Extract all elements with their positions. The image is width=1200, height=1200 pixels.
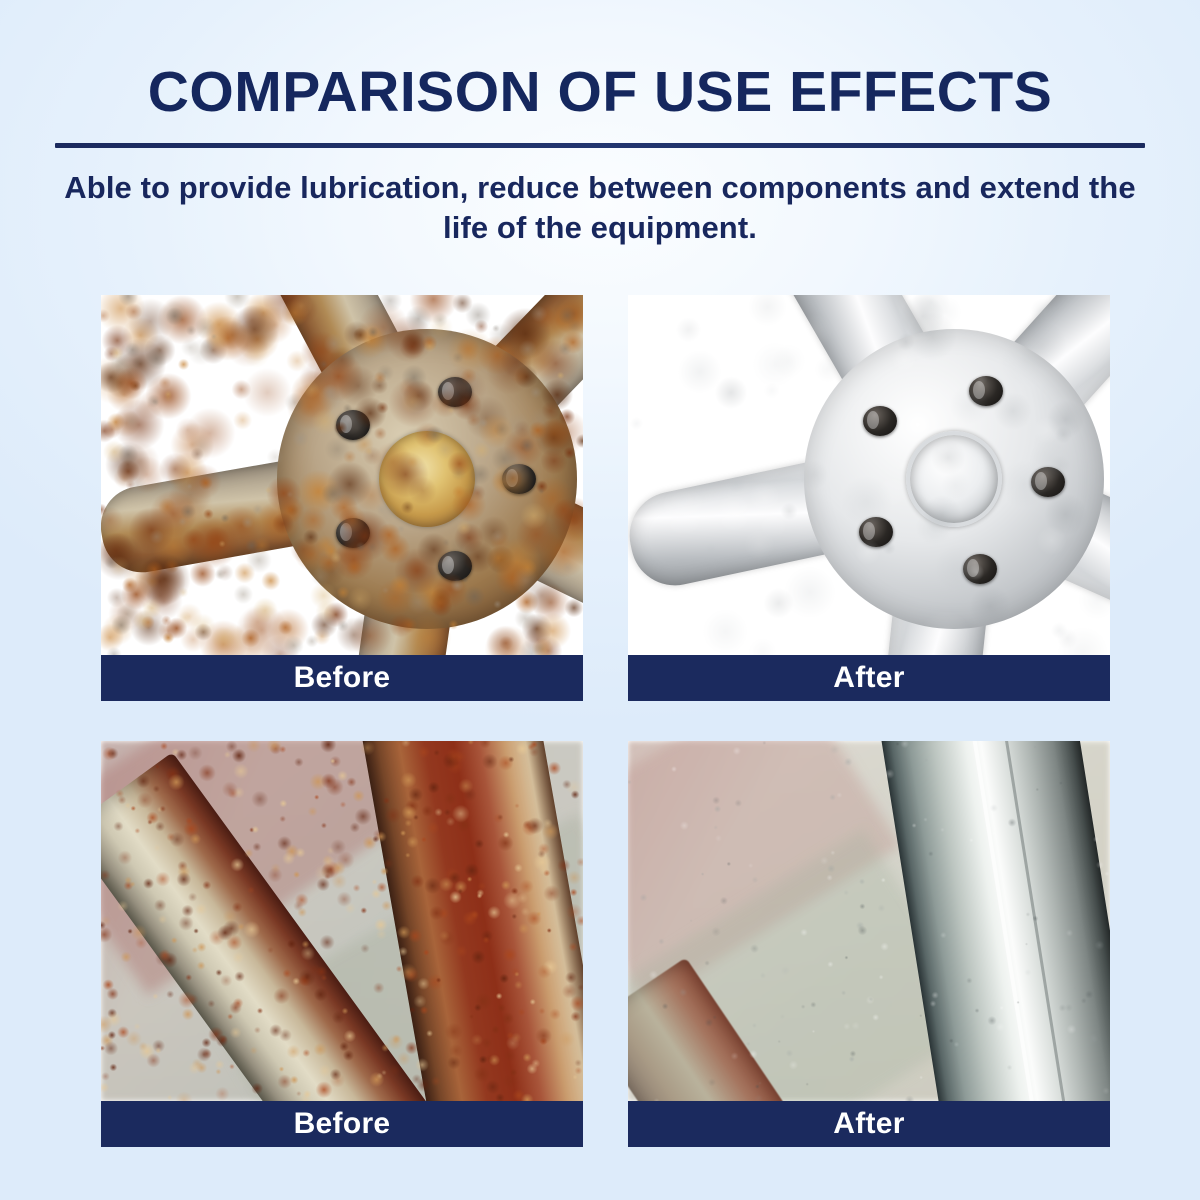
wheel-hubcap	[906, 431, 1002, 527]
page-subtitle: Able to provide lubrication, reduce betw…	[45, 168, 1155, 249]
wheel-lug-nut	[969, 376, 1003, 406]
comparison-card-pipe-after: After	[628, 741, 1110, 1147]
wheel-lug-nut	[1031, 467, 1065, 497]
title-divider	[55, 143, 1145, 148]
comparison-card-pipe-before: Before	[101, 741, 583, 1147]
page-title: COMPARISON OF USE EFFECTS	[0, 64, 1200, 121]
caption-label-pipe-after: After	[628, 1101, 1110, 1147]
rusty-alloy-wheel-photo	[101, 295, 583, 655]
wheel-lug-nut	[438, 377, 472, 407]
caption-label-pipe-before: Before	[101, 1101, 583, 1147]
wheel-lug-nut	[502, 464, 536, 494]
comparison-card-wheel-before: Before	[101, 295, 583, 701]
clean-silver-alloy-wheel-photo	[628, 295, 1110, 655]
caption-label-wheel-before: Before	[101, 655, 583, 701]
clean-galvanized-metal-pipe-photo	[628, 741, 1110, 1101]
wheel-lug-nut	[863, 406, 897, 436]
wheel-lug-nut	[859, 517, 893, 547]
comparison-grid: Before After Before	[101, 295, 1110, 1147]
wheel-hubcap	[379, 431, 475, 527]
rusty-metal-pipe-photo	[101, 741, 583, 1101]
wheel-lug-nut	[336, 518, 370, 548]
page-header: COMPARISON OF USE EFFECTS Able to provid…	[0, 0, 1200, 249]
comparison-card-wheel-after: After	[628, 295, 1110, 701]
wheel-lug-nut	[336, 410, 370, 440]
caption-label-wheel-after: After	[628, 655, 1110, 701]
